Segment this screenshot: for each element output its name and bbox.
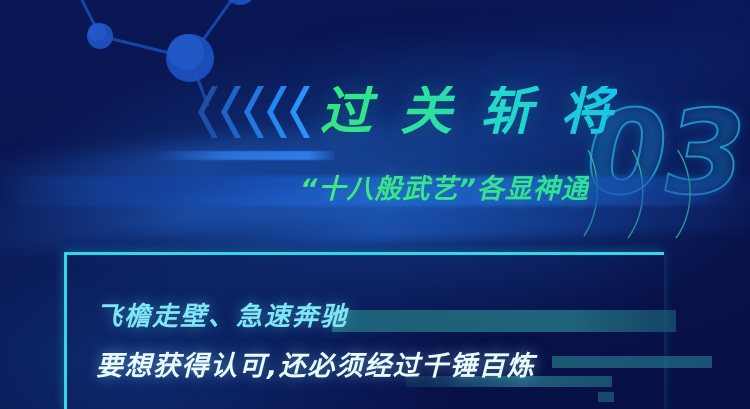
subtitle: “十八般武艺”各显神通 xyxy=(300,173,589,207)
highlight-bar-4 xyxy=(598,392,614,402)
page-title: 过 关 斩 将 xyxy=(320,86,617,138)
chevron-left-icon-5 xyxy=(288,86,310,138)
chevron-group-icon xyxy=(196,86,310,138)
chevron-left-icon-1 xyxy=(196,86,218,138)
highlight-bar-1 xyxy=(332,310,676,332)
chevron-left-icon-4 xyxy=(265,86,287,138)
highlight-bar-2 xyxy=(552,356,712,368)
chevron-left-icon-2 xyxy=(219,86,241,138)
chevron-left-icon-3 xyxy=(242,86,264,138)
headline-row: 过 关 斩 将 xyxy=(196,86,617,138)
slide-canvas: 03 xyxy=(0,0,750,409)
title-underbar xyxy=(155,151,335,160)
body-line-1: 飞檐走壁、急速奔驰 xyxy=(96,296,348,333)
body-line-2: 要想获得认可,还必须经过千锤百炼 xyxy=(96,344,535,383)
